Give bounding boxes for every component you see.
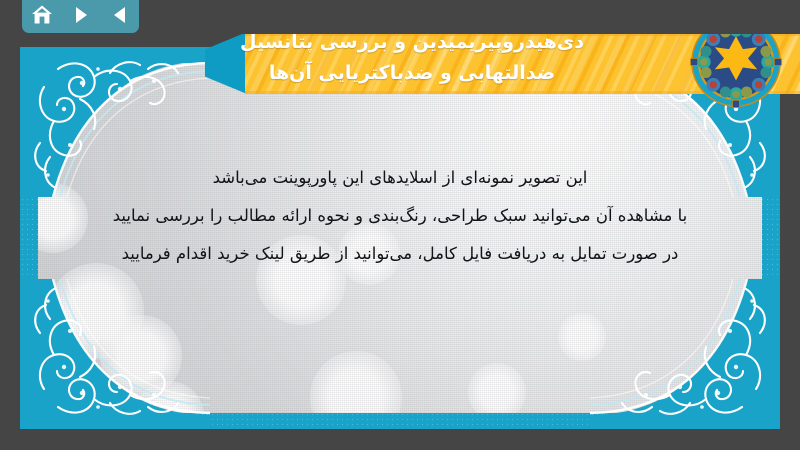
right-triangle-icon <box>70 4 92 26</box>
navigation-button-group <box>22 0 139 33</box>
left-triangle-icon <box>109 4 131 26</box>
slide-content-area: این تصویر نمونه‌ای از اسلایدهای این پاور… <box>38 63 762 413</box>
home-button[interactable] <box>29 2 55 28</box>
bokeh-circle <box>310 351 402 413</box>
prev-button[interactable] <box>107 2 133 28</box>
next-button[interactable] <box>68 2 94 28</box>
bokeh-circle <box>100 315 182 397</box>
slide-frame: این تصویر نمونه‌ای از اسلایدهای این پاور… <box>20 47 780 429</box>
navigation-bar <box>0 0 800 34</box>
body-line-2: با مشاهده آن می‌توانید سبک طراحی، رنگ‌بن… <box>38 197 762 235</box>
slide-body-text: این تصویر نمونه‌ای از اسلایدهای این پاور… <box>38 159 762 273</box>
slide-canvas: این تصویر نمونه‌ای از اسلایدهای این پاور… <box>0 0 800 450</box>
bokeh-circle <box>48 263 144 359</box>
banner-arrow-tab <box>205 32 247 94</box>
body-line-1: این تصویر نمونه‌ای از اسلایدهای این پاور… <box>38 159 762 197</box>
body-line-3: در صورت تمایل به دریافت فایل کامل، می‌تو… <box>38 235 762 273</box>
home-icon <box>30 3 54 27</box>
bokeh-circle <box>468 363 526 413</box>
bokeh-circle <box>558 313 606 361</box>
bokeh-circle <box>134 381 204 413</box>
